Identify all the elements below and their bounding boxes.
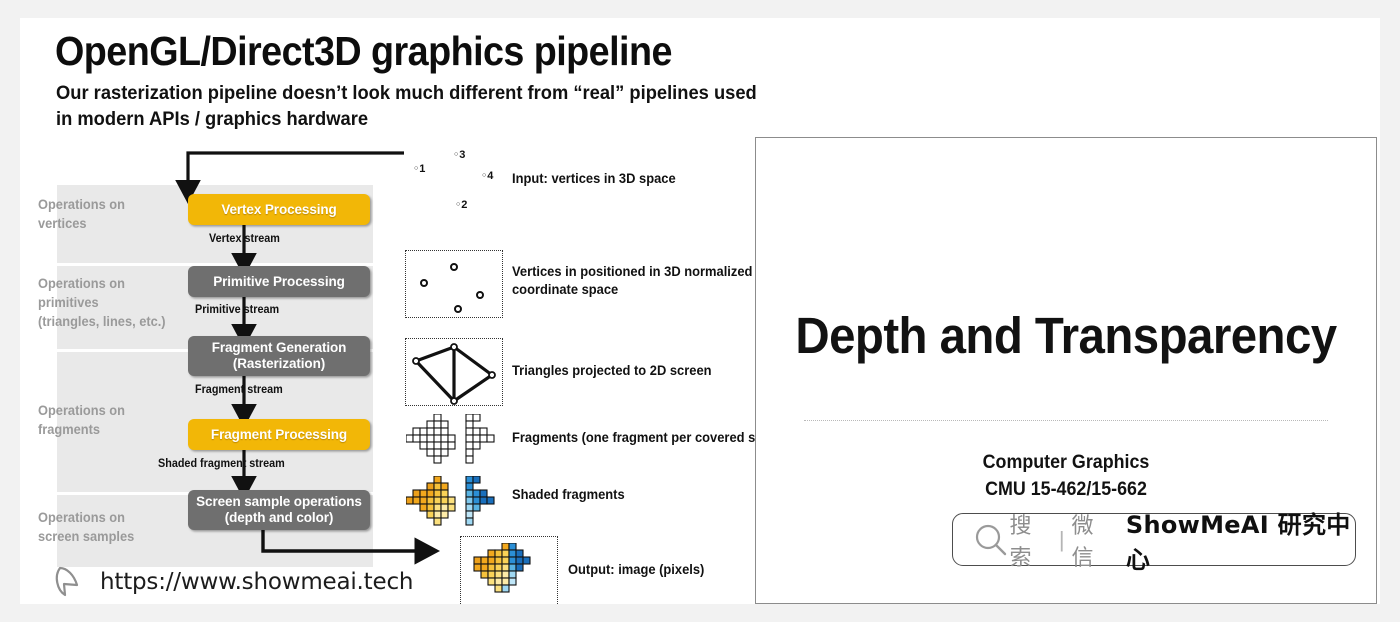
stage-screen-sample-operations[interactable]: Screen sample operations (depth and colo… [188, 490, 370, 530]
stage-label: Primitive Processing [213, 274, 345, 290]
annotation-output-image: Output: image (pixels) [568, 561, 704, 579]
stream-label-vertex: Vertex stream [209, 233, 280, 245]
stage-label: Screen sample operations (depth and colo… [196, 494, 362, 526]
ndc-vertices-box [405, 250, 503, 318]
showmeai-badge: 搜索 | 微信 ShowMeAI 研究中心 [952, 513, 1356, 566]
magnifier-icon [969, 521, 1009, 559]
stage-label: Fragment Generation (Rasterization) [212, 340, 347, 372]
annotation-input-vertices: Input: vertices in 3D space [512, 170, 676, 188]
fragments-shaded-sprite [406, 476, 502, 528]
stage-fragment-generation[interactable]: Fragment Generation (Rasterization) [188, 336, 370, 376]
screenshot-root: OpenGL/Direct3D graphics pipeline Our ra… [0, 0, 1400, 622]
stage-fragment-processing[interactable]: Fragment Processing [188, 419, 370, 450]
overlay-subtitle: Computer Graphics CMU 15-462/15-662 [775, 450, 1358, 504]
projected-triangles-box [405, 338, 503, 406]
slide-subtitle: Our rasterization pipeline doesn’t look … [56, 81, 770, 133]
band-label-vertices: Operations on vertices [38, 195, 125, 233]
stream-label-primitive: Primitive stream [195, 304, 279, 316]
annotation-projected-triangles: Triangles projected to 2D screen [512, 362, 712, 380]
annotation-shaded-fragments: Shaded fragments [512, 486, 625, 504]
ndc-vertices-dots [406, 251, 502, 317]
projected-triangles-shape [406, 339, 502, 405]
input-vertex-1: 1 [414, 163, 425, 175]
stream-label-shaded-fragment: Shaded fragment stream [158, 458, 285, 470]
watermark-url: https://www.showmeai.tech [100, 569, 413, 595]
page-title: OpenGL/Direct3D graphics pipeline [55, 28, 672, 75]
band-label-fragments: Operations on fragments [38, 401, 125, 439]
badge-search-label: 搜索 [1009, 508, 1051, 572]
input-vertex-2: 2 [456, 199, 467, 211]
badge-brand: ShowMeAI 研究中心 [1126, 505, 1355, 575]
overlay-title: Depth and Transparency [778, 306, 1355, 365]
badge-channel-label: 微信 [1072, 508, 1114, 572]
overlay-divider [804, 420, 1328, 421]
band-label-primitives: Operations on primitives (triangles, lin… [38, 274, 166, 331]
stage-vertex-processing[interactable]: Vertex Processing [188, 194, 370, 225]
cursor-arrow-icon [54, 564, 88, 600]
badge-divider: | [1059, 527, 1065, 553]
stage-primitive-processing[interactable]: Primitive Processing [188, 266, 370, 297]
overlay-title-slide: Depth and Transparency Computer Graphics… [755, 137, 1377, 604]
fragments-unshaded-sprite [406, 414, 502, 466]
output-image-box [460, 536, 558, 604]
stage-label: Vertex Processing [221, 202, 336, 218]
watermark: https://www.showmeai.tech [54, 564, 413, 600]
stage-label: Fragment Processing [211, 427, 347, 443]
band-label-screen-samples: Operations on screen samples [38, 508, 134, 546]
input-vertex-4: 4 [482, 170, 493, 182]
output-image-sprite [469, 543, 565, 604]
input-vertex-3: 3 [454, 149, 465, 161]
stream-label-fragment: Fragment stream [195, 384, 283, 396]
annotation-ndc-space: Vertices in positioned in 3D normalized … [512, 263, 769, 300]
